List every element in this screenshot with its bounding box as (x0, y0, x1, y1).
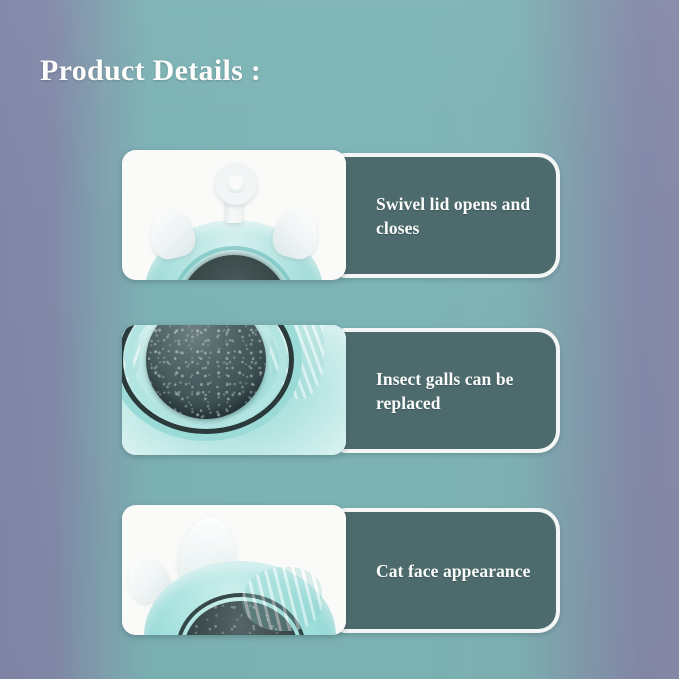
caption-panel: Swivel lid opens and closes (340, 153, 560, 278)
photo-stage (122, 325, 346, 455)
detail-card-insect-galls: Insect galls can be replaced (122, 325, 560, 455)
photo-stage (122, 505, 346, 635)
caption-panel: Insect galls can be replaced (340, 328, 560, 453)
silicone-pleat-right (242, 567, 322, 631)
toy-mint-body (122, 325, 346, 455)
photo-stage (122, 150, 346, 280)
page-title: Product Details : (40, 54, 261, 88)
product-photo-insect-galls (122, 325, 346, 455)
product-photo-cat-face (122, 505, 346, 635)
detail-card-cat-face: Cat face appearance (122, 505, 560, 635)
caption-text: Swivel lid opens and closes (340, 192, 556, 240)
hanging-ring-icon (215, 163, 257, 205)
product-photo-swivel-lid (122, 150, 346, 280)
detail-card-swivel-lid: Swivel lid opens and closes (122, 150, 560, 280)
caption-panel: Cat face appearance (340, 508, 560, 633)
caption-text: Cat face appearance (340, 559, 545, 583)
caption-text: Insect galls can be replaced (340, 367, 556, 415)
product-details-infographic: Product Details : Swivel lid opens and c… (0, 0, 679, 679)
